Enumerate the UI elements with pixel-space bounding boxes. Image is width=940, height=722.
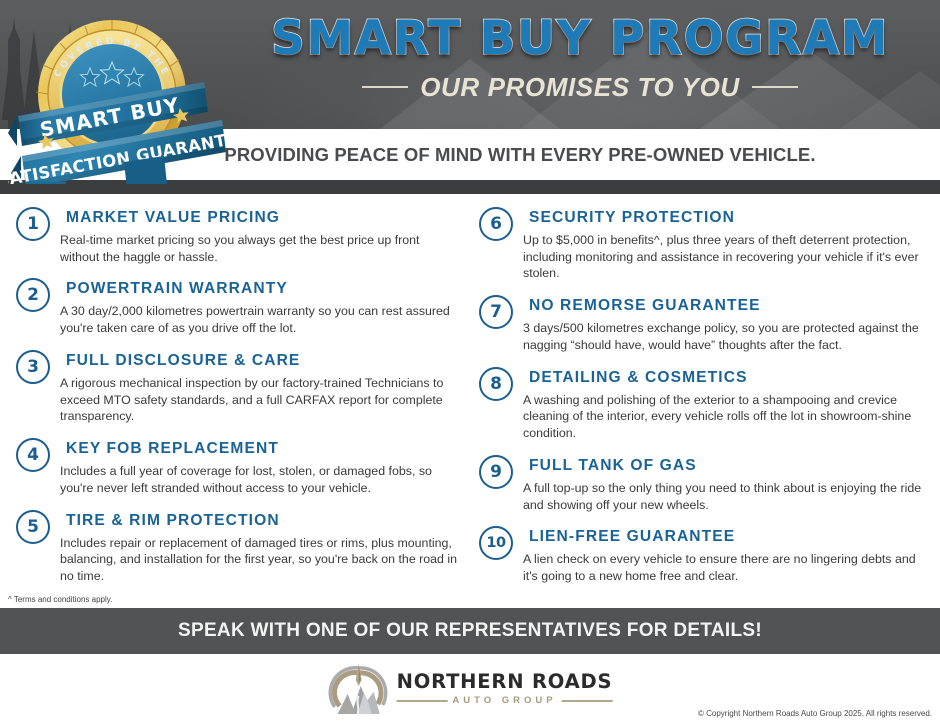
logo-rule-left	[397, 700, 448, 702]
logo-tagline-row: AUTO GROUP	[397, 695, 613, 706]
promise-number: 4	[16, 438, 50, 472]
promise-item[interactable]: 8 DETAILING & COSMETICS A washing and po…	[479, 365, 924, 449]
promise-item[interactable]: 1 MARKET VALUE PRICING Real-time market …	[16, 205, 461, 272]
promise-description: Up to $5,000 in benefits^, plus three ye…	[523, 232, 924, 282]
terms-and-conditions-note: ^ Terms and conditions apply.	[8, 595, 112, 604]
promise-description: Real-time market pricing so you always g…	[60, 232, 461, 265]
copyright-text: © Copyright Northern Roads Auto Group 20…	[698, 709, 932, 718]
promises-column-left: 1 MARKET VALUE PRICING Real-time market …	[16, 205, 461, 608]
promise-item[interactable]: 3 FULL DISCLOSURE & CARE A rigorous mech…	[16, 348, 461, 432]
promise-item[interactable]: 2 POWERTRAIN WARRANTY A 30 day/2,000 kil…	[16, 276, 461, 343]
header-subtitle-row: OUR PROMISES TO YOU	[230, 72, 930, 103]
promise-title: SECURITY PROTECTION	[529, 209, 924, 227]
promise-number: 3	[16, 350, 50, 384]
logo-name: NORTHERN ROADS	[397, 672, 613, 692]
promise-title: MARKET VALUE PRICING	[66, 209, 461, 227]
cta-bar[interactable]: SPEAK WITH ONE OF OUR REPRESENTATIVES FO…	[0, 608, 940, 654]
promise-item[interactable]: 10 LIEN-FREE GUARANTEE A lien check on e…	[479, 524, 924, 591]
promise-description: A rigorous mechanical inspection by our …	[60, 375, 461, 425]
mountain-compass-icon	[328, 660, 390, 718]
promise-title: LIEN-FREE GUARANTEE	[529, 528, 924, 546]
rule-left	[362, 86, 408, 88]
page-subtitle: OUR PROMISES TO YOU	[420, 72, 740, 103]
promise-item[interactable]: 9 FULL TANK OF GAS A full top-up so the …	[479, 453, 924, 520]
promise-number: 9	[479, 455, 513, 489]
promise-number: 6	[479, 207, 513, 241]
promise-number: 7	[479, 295, 513, 329]
rule-right	[752, 86, 798, 88]
promises-content: 1 MARKET VALUE PRICING Real-time market …	[0, 194, 940, 608]
logo-tagline: AUTO GROUP	[452, 695, 556, 706]
promise-title: FULL TANK OF GAS	[529, 457, 924, 475]
promise-description: A washing and polishing of the exterior …	[523, 392, 924, 442]
promise-item[interactable]: 5 TIRE & RIM PROTECTION Includes repair …	[16, 508, 461, 592]
promise-title: DETAILING & COSMETICS	[529, 369, 924, 387]
promise-number: 5	[16, 510, 50, 544]
promise-number: 10	[479, 526, 513, 560]
northern-roads-logo[interactable]: NORTHERN ROADS AUTO GROUP	[328, 660, 613, 718]
promise-number: 8	[479, 367, 513, 401]
promise-description: A full top-up so the only thing you need…	[523, 480, 924, 513]
promise-title: POWERTRAIN WARRANTY	[66, 280, 461, 298]
promise-number: 1	[16, 207, 50, 241]
logo-rule-right	[562, 700, 613, 702]
promise-item[interactable]: 4 KEY FOB REPLACEMENT Includes a full ye…	[16, 436, 461, 503]
cta-text: SPEAK WITH ONE OF OUR REPRESENTATIVES FO…	[178, 620, 762, 642]
promise-description: Includes a full year of coverage for los…	[60, 463, 461, 496]
page-footer: NORTHERN ROADS AUTO GROUP © Copyright No…	[0, 654, 940, 722]
smart-buy-satisfaction-guarantee-badge: COVERED BY THE · · · · · · · · · · · · S…	[8, 6, 234, 184]
promise-number: 2	[16, 278, 50, 312]
header-title-block: SMART BUY PROGRAM OUR PROMISES TO YOU	[230, 14, 930, 103]
promise-title: NO REMORSE GUARANTEE	[529, 297, 924, 315]
promise-description: A 30 day/2,000 kilometres powertrain war…	[60, 303, 461, 336]
promise-title: KEY FOB REPLACEMENT	[66, 440, 461, 458]
promise-item[interactable]: 6 SECURITY PROTECTION Up to $5,000 in be…	[479, 205, 924, 289]
promise-title: TIRE & RIM PROTECTION	[66, 512, 461, 530]
promise-item[interactable]: 7 NO REMORSE GUARANTEE 3 days/500 kilome…	[479, 293, 924, 360]
page-title: SMART BUY PROGRAM	[230, 14, 930, 64]
promise-title: FULL DISCLOSURE & CARE	[66, 352, 461, 370]
promises-column-right: 6 SECURITY PROTECTION Up to $5,000 in be…	[479, 205, 924, 608]
promise-description: A lien check on every vehicle to ensure …	[523, 551, 924, 584]
promise-description: 3 days/500 kilometres exchange policy, s…	[523, 320, 924, 353]
promise-description: Includes repair or replacement of damage…	[60, 535, 461, 585]
